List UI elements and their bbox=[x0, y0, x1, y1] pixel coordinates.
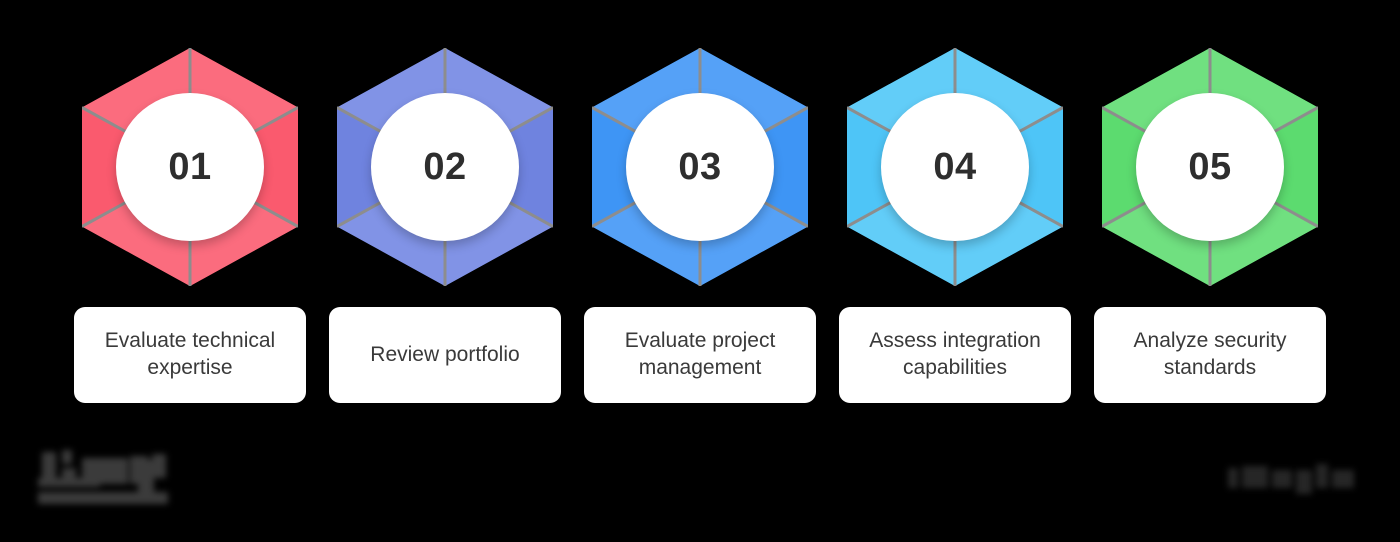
step-04: 04Assess integration capabilities bbox=[827, 0, 1083, 420]
step-number-label: 01 bbox=[168, 148, 211, 186]
hexagon-badge-02[interactable]: 02 bbox=[337, 48, 553, 286]
step-caption-card-01[interactable]: Evaluate technical expertise bbox=[74, 307, 306, 403]
blurred-brand-logo bbox=[34, 448, 202, 504]
step-number-label: 02 bbox=[423, 148, 466, 186]
step-caption-text: Evaluate project management bbox=[598, 328, 802, 382]
step-number-label: 04 bbox=[933, 148, 976, 186]
step-01: 01Evaluate technical expertise bbox=[62, 0, 318, 420]
step-caption-text: Evaluate technical expertise bbox=[88, 328, 292, 382]
hexagon-badge-01[interactable]: 01 bbox=[82, 48, 298, 286]
hexagon-badge-05[interactable]: 05 bbox=[1102, 48, 1318, 286]
step-number-circle: 04 bbox=[881, 93, 1029, 241]
step-number-circle: 01 bbox=[116, 93, 264, 241]
step-caption-card-03[interactable]: Evaluate project management bbox=[584, 307, 816, 403]
step-caption-text: Analyze security standards bbox=[1108, 328, 1312, 382]
step-number-circle: 05 bbox=[1136, 93, 1284, 241]
step-number-label: 03 bbox=[678, 148, 721, 186]
step-number-circle: 02 bbox=[371, 93, 519, 241]
step-number-label: 05 bbox=[1188, 148, 1231, 186]
infographic-canvas: 01Evaluate technical expertise02Review p… bbox=[0, 0, 1400, 542]
step-05: 05Analyze security standards bbox=[1082, 0, 1338, 420]
step-caption-card-04[interactable]: Assess integration capabilities bbox=[839, 307, 1071, 403]
step-number-circle: 03 bbox=[626, 93, 774, 241]
step-02: 02Review portfolio bbox=[317, 0, 573, 420]
step-caption-text: Review portfolio bbox=[370, 342, 519, 369]
step-03: 03Evaluate project management bbox=[572, 0, 828, 420]
blurred-source-mark bbox=[1226, 462, 1370, 498]
step-caption-card-02[interactable]: Review portfolio bbox=[329, 307, 561, 403]
hexagon-badge-03[interactable]: 03 bbox=[592, 48, 808, 286]
step-caption-text: Assess integration capabilities bbox=[853, 328, 1057, 382]
step-caption-card-05[interactable]: Analyze security standards bbox=[1094, 307, 1326, 403]
hexagon-badge-04[interactable]: 04 bbox=[847, 48, 1063, 286]
